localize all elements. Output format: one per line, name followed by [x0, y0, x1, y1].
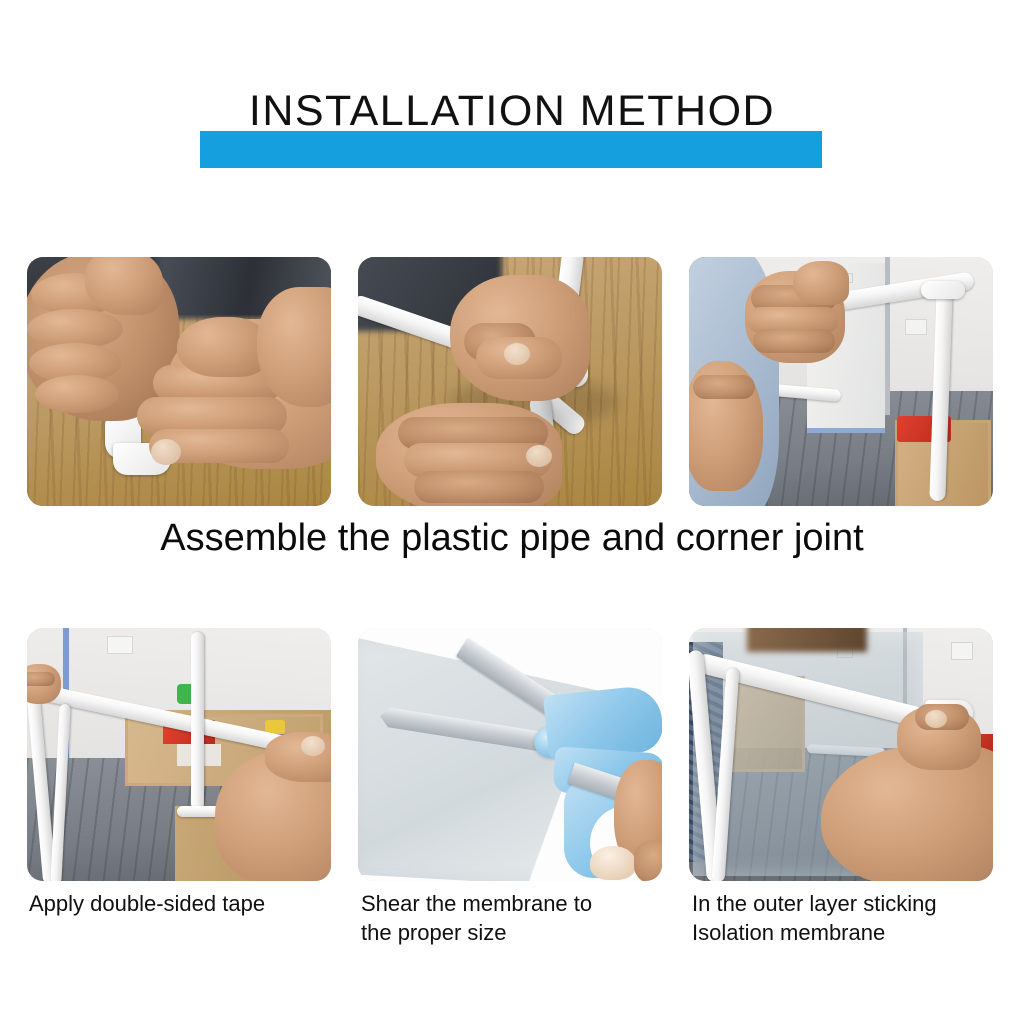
- caption-step-5: Shear the membrane to the proper size: [361, 889, 681, 947]
- step-photo-2: [358, 257, 662, 506]
- step-photo-5: [358, 628, 662, 881]
- steps-row-bottom: [0, 628, 1024, 881]
- caption-step-6-line1: In the outer layer sticking: [692, 889, 1022, 918]
- page-title: INSTALLATION METHOD: [0, 86, 1024, 136]
- scene-assembling-frame-room: [689, 257, 993, 506]
- step-photo-6: [689, 628, 993, 881]
- installation-method-infographic: INSTALLATION METHOD: [0, 0, 1024, 1024]
- caption-step-6-line2: Isolation membrane: [692, 918, 1022, 947]
- title-accent-bar: [200, 131, 822, 168]
- page-header: INSTALLATION METHOD: [0, 86, 1024, 176]
- step-photo-3: [689, 257, 993, 506]
- caption-step-5-line1: Shear the membrane to: [361, 889, 681, 918]
- caption-step-6: In the outer layer sticking Isolation me…: [692, 889, 1022, 947]
- caption-step-5-line2: the proper size: [361, 918, 681, 947]
- scene-scissors-membrane: [358, 628, 662, 881]
- scene-frame-tape: [27, 628, 331, 881]
- caption-assemble: Assemble the plastic pipe and corner joi…: [0, 514, 1024, 562]
- caption-step-4-line1: Apply double-sided tape: [29, 889, 349, 918]
- caption-step-4: Apply double-sided tape: [29, 889, 349, 918]
- scene-sticking-membrane: [689, 628, 993, 881]
- step-photo-4: [27, 628, 331, 881]
- scene-joining-pipes: [358, 257, 662, 506]
- scene-pipe-into-elbow: [27, 257, 331, 506]
- steps-row-top: [0, 257, 1024, 506]
- step-photo-1: [27, 257, 331, 506]
